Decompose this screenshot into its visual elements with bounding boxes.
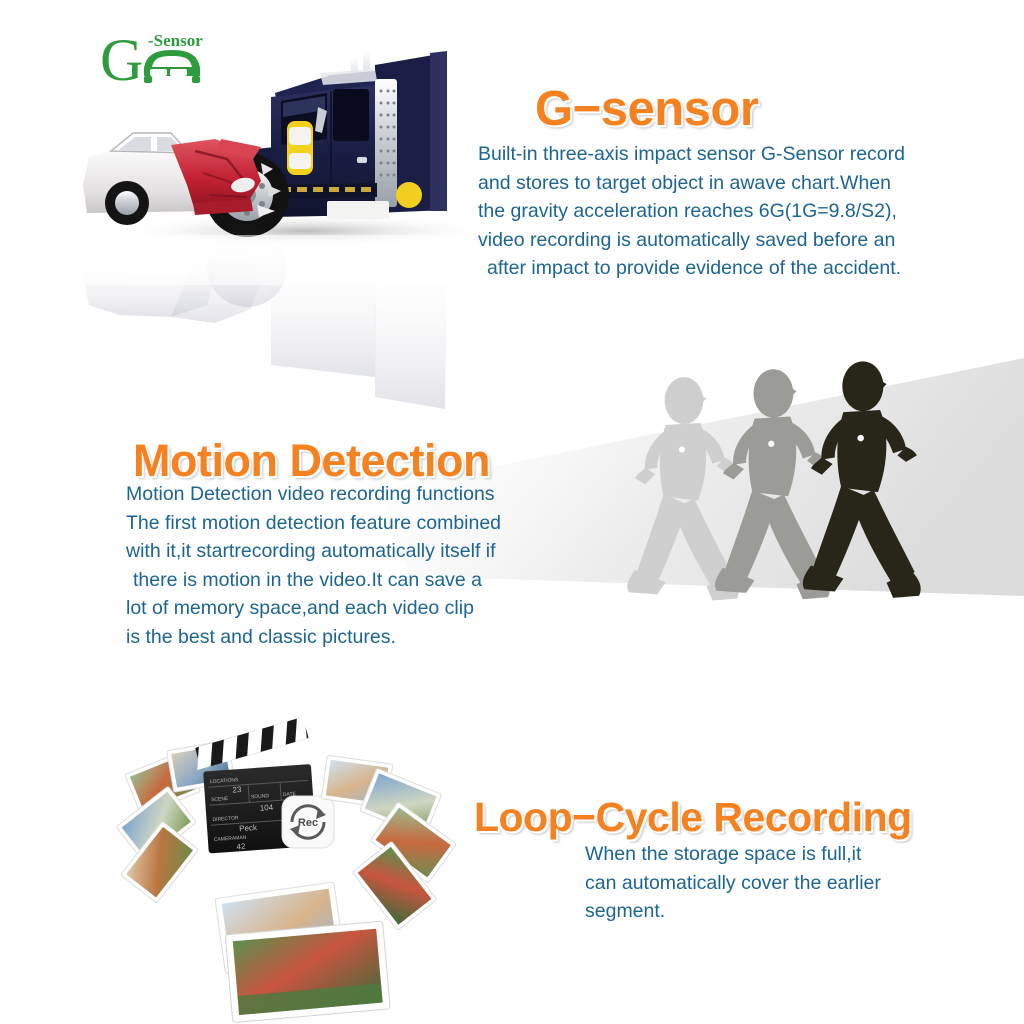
motion-detection-body-text: Motion Detection video recording functio… — [126, 480, 501, 651]
loop-cycle-recording-heading: Loop−Cycle Recording — [474, 797, 912, 838]
gsensor-body-text: Built-in three-axis impact sensor G-Sens… — [478, 140, 905, 283]
runner-silhouette-solid — [803, 361, 921, 598]
rec-label: Rec — [298, 817, 318, 829]
collage-photo-front — [225, 921, 390, 1022]
svg-text:104: 104 — [260, 803, 274, 813]
logo-sensor-label: -Sensor — [148, 31, 203, 50]
car-front-icon — [144, 50, 200, 83]
product-feature-page: G -Sensor G−sensor Built-in three-axis i… — [0, 0, 1024, 1024]
body-line: The first motion detection feature combi… — [126, 509, 501, 538]
svg-text:23: 23 — [232, 785, 242, 795]
body-line: there is motion in the video.It can save… — [126, 566, 501, 595]
body-line: video recording is automatically saved b… — [478, 226, 905, 255]
body-line: lot of memory space,and each video clip — [126, 594, 501, 623]
section-loop-cycle-recording: LOCATIONS SCENESOUNDDATE DIRECTOR CAMERA… — [0, 670, 1024, 1024]
body-line: with it,it startrecording automatically … — [126, 537, 501, 566]
svg-text:Peck: Peck — [239, 823, 258, 833]
body-line: after impact to provide evidence of the … — [478, 254, 905, 283]
body-line: is the best and classic pictures. — [126, 623, 501, 652]
photo-loop-collage-graphic: LOCATIONS SCENESOUNDDATE DIRECTOR CAMERA… — [110, 710, 500, 1010]
gsensor-heading: G−sensor — [535, 85, 758, 134]
body-line: Motion Detection video recording functio… — [126, 480, 501, 509]
section-motion-detection: Motion Detection Motion Detection video … — [0, 330, 1024, 670]
rec-loop-button: Rec — [282, 796, 334, 848]
body-line: the gravity acceleration reaches 6G(1G=9… — [478, 197, 905, 226]
runner-silhouette-faint — [627, 377, 738, 600]
running-silhouettes-graphic — [575, 350, 1024, 640]
svg-text:SOUND: SOUND — [251, 793, 270, 800]
runner-silhouette-mid — [715, 369, 830, 599]
body-line: can automatically cover the earlier — [585, 869, 881, 898]
svg-text:SCENE: SCENE — [211, 796, 229, 803]
body-line: Built-in three-axis impact sensor G-Sens… — [478, 140, 905, 169]
gsensor-logo: G -Sensor — [100, 24, 235, 88]
svg-text:42: 42 — [236, 842, 246, 852]
logo-letter-g: G — [100, 27, 143, 93]
motion-detection-heading: Motion Detection — [133, 438, 490, 483]
section-gsensor: G -Sensor G−sensor Built-in three-axis i… — [0, 0, 1024, 330]
body-line: segment. — [585, 897, 881, 926]
body-line: When the storage space is full,it — [585, 840, 881, 869]
body-line: and stores to target object in awave cha… — [478, 169, 905, 198]
loop-cycle-body-text: When the storage space is full,it can au… — [585, 840, 881, 926]
